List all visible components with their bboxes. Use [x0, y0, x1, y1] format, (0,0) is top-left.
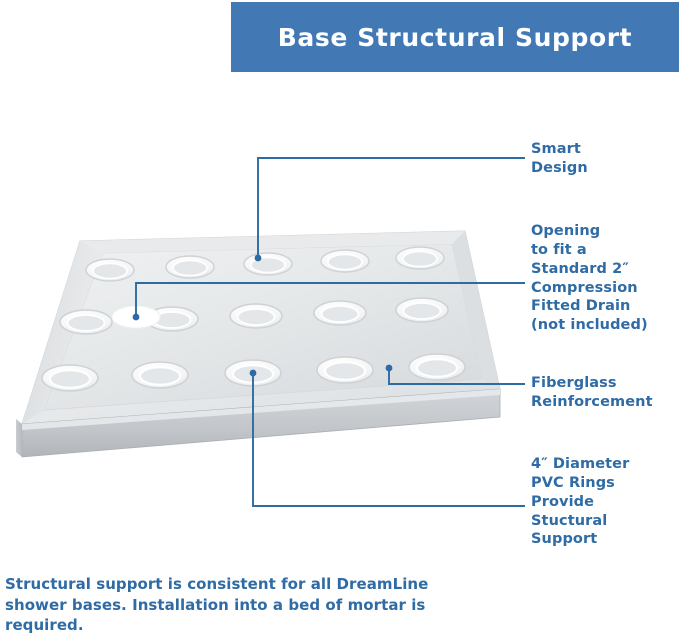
leader-dot-fiberglass — [386, 365, 393, 372]
pvc-ring — [396, 298, 448, 322]
pvc-ring — [132, 362, 188, 388]
pvc-ring — [166, 256, 214, 278]
pvc-ring — [396, 247, 444, 269]
callout-smart-design: Smart Design — [531, 140, 588, 178]
pvc-ring — [244, 253, 292, 275]
footer-caption: Structural support is consistent for all… — [5, 574, 465, 636]
callout-fiberglass-reinforcement: Fiberglass Reinforcement — [531, 374, 653, 412]
callout-drain-opening: Opening to fit a Standard 2″ Compression… — [531, 222, 648, 335]
pvc-ring — [60, 310, 112, 334]
leader-dot-drain-opening — [133, 314, 140, 321]
pvc-ring — [86, 259, 134, 281]
callout-pvc-rings: 4″ Diameter PVC Rings Provide Stuctural … — [531, 455, 629, 549]
leader-dot-smart-design — [255, 255, 262, 262]
pvc-ring — [409, 354, 465, 380]
pvc-ring — [314, 301, 366, 325]
pvc-ring — [230, 304, 282, 328]
base-left-face — [16, 419, 22, 457]
pvc-ring — [321, 250, 369, 272]
leader-dot-pvc-rings — [250, 370, 257, 377]
pvc-ring — [317, 357, 373, 383]
pvc-ring — [42, 365, 98, 391]
